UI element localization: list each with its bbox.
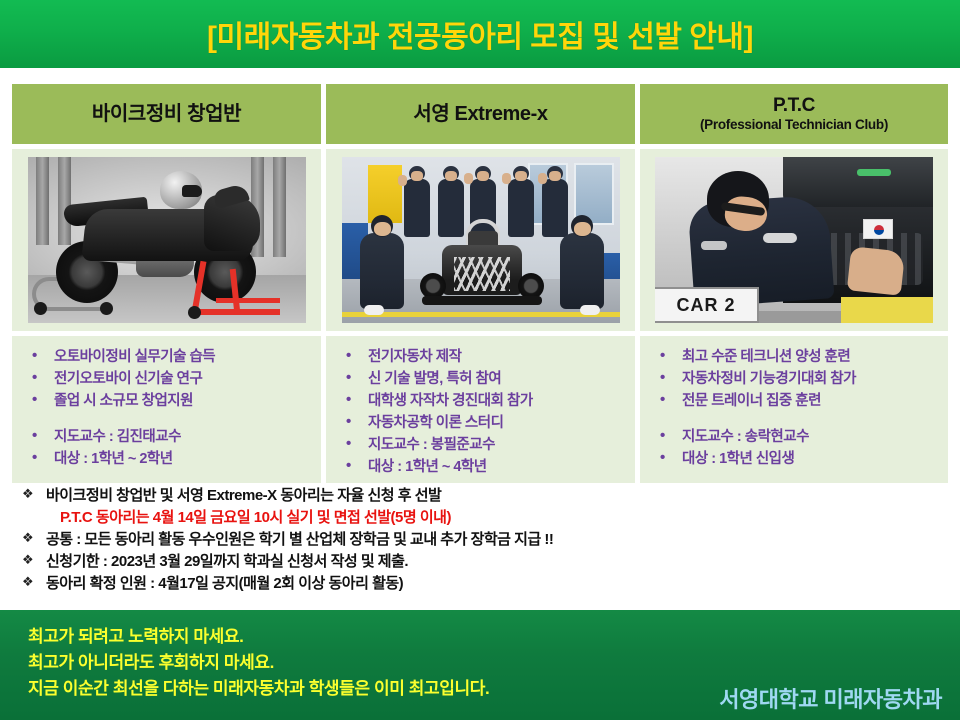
bullet-list-ptc: 최고 수준 테크니션 양성 훈련 자동차정비 기능경기대회 참가 전문 트레이너… xyxy=(654,346,942,470)
bullet-cell-bike: 오토바이정비 실무기술 습득 전기오토바이 신기술 연구 졸업 시 소규모 창업… xyxy=(12,336,321,486)
list-item: 전기오토바이 신기술 연구 xyxy=(26,368,315,390)
image-cell-bike xyxy=(12,149,321,331)
list-spacer xyxy=(26,412,315,426)
list-item: 졸업 시 소규모 창업지원 xyxy=(26,390,315,412)
formula-student-car xyxy=(420,219,544,305)
note-line: 바이크정비 창업반 및 서영 Extreme-X 동아리는 자율 신청 후 선발 xyxy=(12,485,948,507)
notes-section: 바이크정비 창업반 및 서영 Extreme-X 동아리는 자율 신청 후 선발… xyxy=(12,483,948,601)
list-item: 대상 : 1학년 ~ 2학년 xyxy=(26,448,315,470)
image-column-extreme xyxy=(326,149,635,331)
car-2-sign: CAR 2 xyxy=(655,287,759,323)
header-title-extreme: 서영 Extreme-x xyxy=(413,103,547,126)
bullet-list-extreme: 전기자동차 제작 신 기술 발명, 특허 참여 대학생 자작차 경진대회 참가 … xyxy=(340,346,629,478)
header-cell-ptc: P.T.C (Professional Technician Club) xyxy=(640,84,948,144)
header-subtitle-ptc: (Professional Technician Club) xyxy=(700,117,888,133)
image-column-ptc: CAR 2 xyxy=(640,149,948,331)
footer-line: 최고가 아니더라도 후회하지 마세요. xyxy=(28,650,960,676)
list-spacer xyxy=(654,412,942,426)
note-line: 공통 : 모든 동아리 활동 우수인원은 학기 별 산업체 장학금 및 교내 추… xyxy=(12,529,948,551)
list-item: 자동차정비 기능경기대회 참가 xyxy=(654,368,942,390)
club-table: 바이크정비 창업반 서영 Extreme-x P.T.C (Profession… xyxy=(12,84,948,486)
table-image-row: CAR 2 xyxy=(12,149,948,331)
bullets-column-bike: 오토바이정비 실무기술 습득 전기오토바이 신기술 연구 졸업 시 소규모 창업… xyxy=(12,336,321,486)
car-2-label: CAR 2 xyxy=(676,295,735,316)
bullets-column-ptc: 최고 수준 테크니션 양성 훈련 자동차정비 기능경기대회 참가 전문 트레이너… xyxy=(640,336,948,486)
korea-flag-patch xyxy=(863,219,893,239)
list-item: 신 기술 발명, 특허 참여 xyxy=(340,368,629,390)
university-signature: 서영대학교 미래자동차과 xyxy=(719,682,942,714)
title-banner: [미래자동차과 전공동아리 모집 및 선발 안내] xyxy=(0,0,960,68)
list-item: 전기자동차 제작 xyxy=(340,346,629,368)
table-header-row: 바이크정비 창업반 서영 Extreme-x P.T.C (Profession… xyxy=(12,84,948,144)
formula-car-team-photo xyxy=(342,157,620,323)
poster-root: [미래자동차과 전공동아리 모집 및 선발 안내] 바이크정비 창업반 서영 E… xyxy=(0,0,960,720)
image-cell-extreme xyxy=(326,149,635,331)
list-item: 지도교수 : 송락현교수 xyxy=(654,426,942,448)
list-item: 대상 : 1학년 ~ 4학년 xyxy=(340,456,629,478)
list-item: 지도교수 : 봉필준교수 xyxy=(340,434,629,456)
column-bike: 바이크정비 창업반 xyxy=(12,84,321,144)
list-item: 대상 : 1학년 신입생 xyxy=(654,448,942,470)
footer-banner: 최고가 되려고 노력하지 마세요. 최고가 아니더라도 후회하지 마세요. 지금… xyxy=(0,610,960,720)
header-cell-extreme: 서영 Extreme-x xyxy=(326,84,635,144)
header-title-ptc: P.T.C xyxy=(773,95,815,117)
list-item: 전문 트레이너 집중 훈련 xyxy=(654,390,942,412)
table-bullet-row: 오토바이정비 실무기술 습득 전기오토바이 신기술 연구 졸업 시 소규모 창업… xyxy=(12,336,948,486)
list-item: 오토바이정비 실무기술 습득 xyxy=(26,346,315,368)
footer-line: 최고가 되려고 노력하지 마세요. xyxy=(28,624,960,650)
list-item: 대학생 자작차 경진대회 참가 xyxy=(340,390,629,412)
column-ptc: P.T.C (Professional Technician Club) xyxy=(640,84,948,144)
list-item: 자동차공학 이론 스터디 xyxy=(340,412,629,434)
header-title-bike: 바이크정비 창업반 xyxy=(92,103,241,126)
bullet-cell-ptc: 최고 수준 테크니션 양성 훈련 자동차정비 기능경기대회 참가 전문 트레이너… xyxy=(640,336,948,486)
bullet-list-bike: 오토바이정비 실무기술 습득 전기오토바이 신기술 연구 졸업 시 소규모 창업… xyxy=(26,346,315,470)
page-title: [미래자동차과 전공동아리 모집 및 선발 안내] xyxy=(207,12,753,56)
column-extreme: 서영 Extreme-x xyxy=(326,84,635,144)
header-cell-bike: 바이크정비 창업반 xyxy=(12,84,321,144)
list-item: 최고 수준 테크니션 양성 훈련 xyxy=(654,346,942,368)
image-column-bike xyxy=(12,149,321,331)
list-item: 지도교수 : 김진태교수 xyxy=(26,426,315,448)
note-line-highlight: P.T.C 동아리는 4월 14일 금요일 10시 실기 및 면접 선발(5명 … xyxy=(12,507,948,529)
note-line: 동아리 확정 인원 : 4월17일 공지(매월 2회 이상 동아리 활동) xyxy=(12,573,948,595)
note-line: 신청기한 : 2023년 3월 29일까지 학과실 신청서 작성 및 제출. xyxy=(12,551,948,573)
bullet-cell-extreme: 전기자동차 제작 신 기술 발명, 특허 참여 대학생 자작차 경진대회 참가 … xyxy=(326,336,635,486)
image-cell-ptc: CAR 2 xyxy=(640,149,948,331)
bullets-column-extreme: 전기자동차 제작 신 기술 발명, 특허 참여 대학생 자작차 경진대회 참가 … xyxy=(326,336,635,486)
technician-engine-bay-photo: CAR 2 xyxy=(655,157,933,323)
motorcycle-workshop-photo xyxy=(28,157,306,323)
